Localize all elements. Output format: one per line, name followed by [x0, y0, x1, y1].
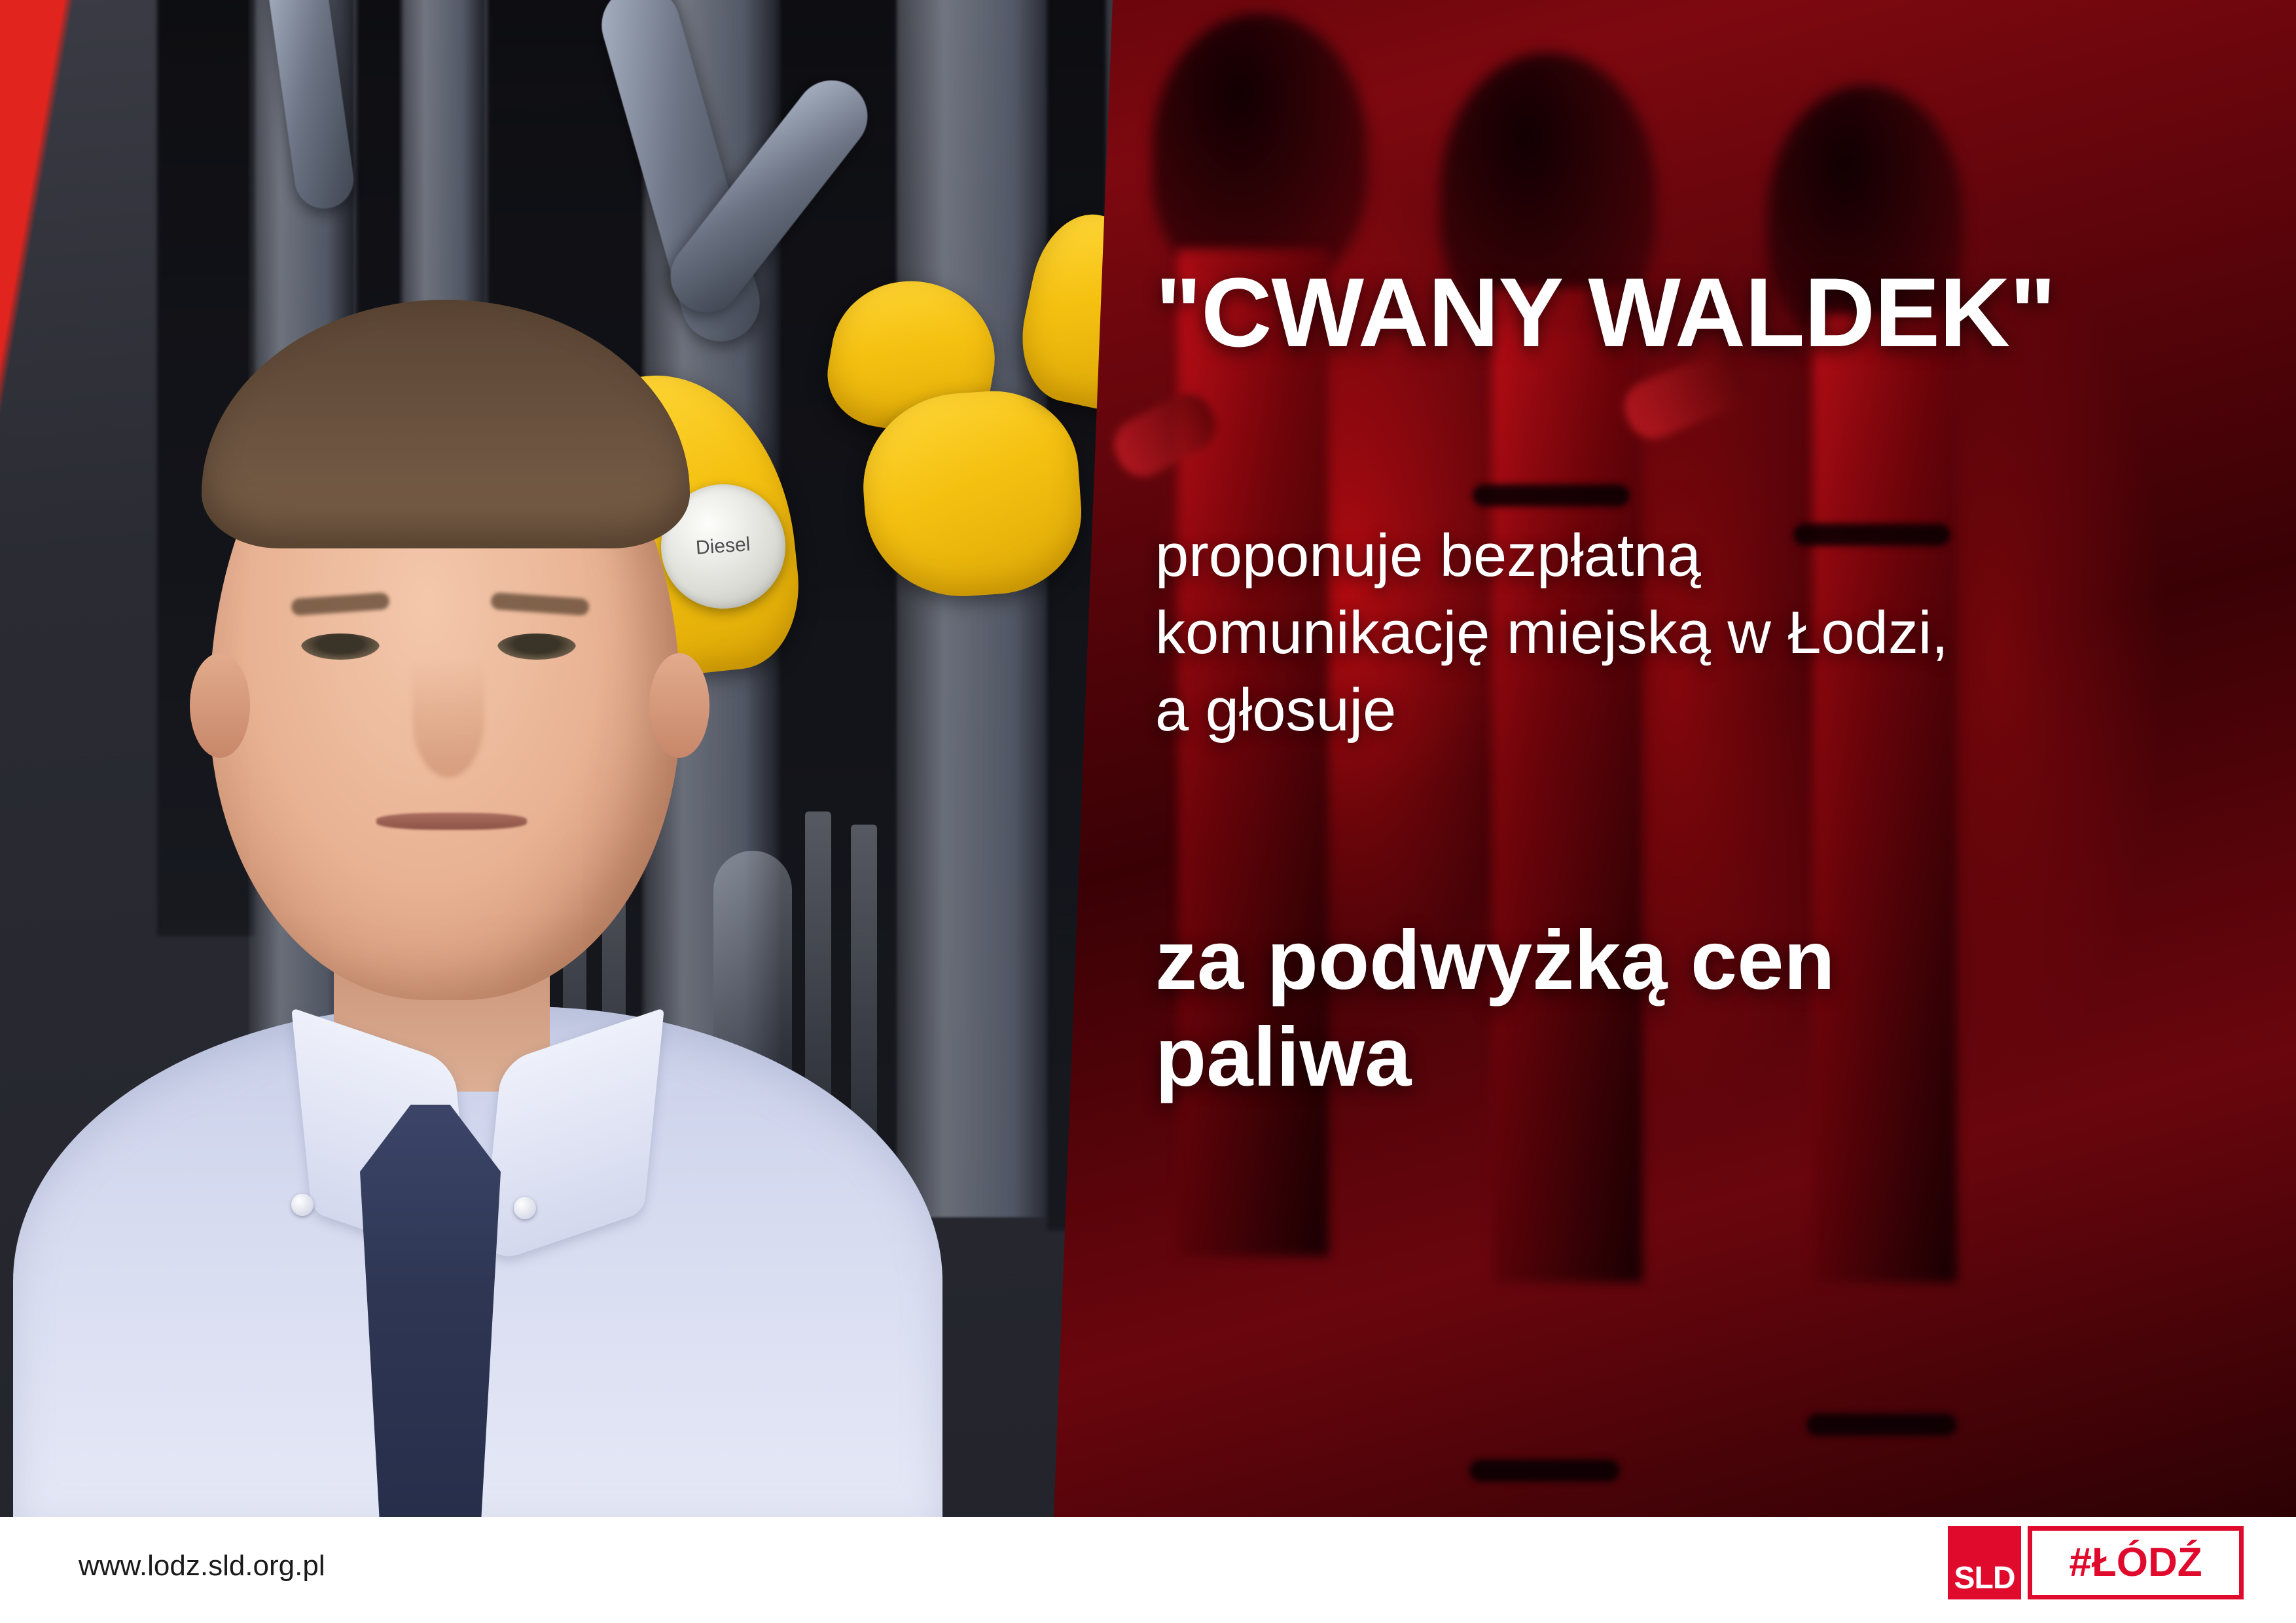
campaign-poster: Diesel — [0, 0, 2296, 1623]
poster-image-area: Diesel — [0, 0, 2296, 1517]
red-nozzle-band — [1473, 484, 1630, 507]
mouth — [376, 813, 527, 830]
candidate-portrait — [0, 130, 962, 1517]
poster-headline: "CWANY WALDEK" — [1155, 263, 2055, 361]
poster-body-line-1: proponuje bezpłatną — [1155, 524, 1701, 588]
sld-logo: SLD — [1948, 1526, 2021, 1599]
lodz-logo: #ŁÓDŹ — [2028, 1526, 2244, 1599]
poster-footer: www.lodz.sld.org.pl SLD #ŁÓDŹ — [0, 1517, 2296, 1623]
eye-left — [301, 633, 380, 660]
red-nozzle-head — [1152, 13, 1368, 288]
eye-right — [497, 633, 576, 660]
sld-logo-label: SLD — [1954, 1563, 2015, 1594]
website-url[interactable]: www.lodz.sld.org.pl — [79, 1550, 325, 1582]
gas-station-photo: Diesel — [0, 0, 1152, 1517]
ear-left — [190, 653, 250, 758]
poster-emphasis-line-1: za podwyżką cen — [1155, 916, 1835, 1005]
red-nozzle-body — [1492, 288, 1643, 1283]
nose — [412, 660, 484, 777]
shirt-button — [514, 1197, 536, 1219]
lodz-logo-label: #ŁÓDŹ — [2069, 1543, 2202, 1583]
poster-emphasis-line-2: paliwa — [1155, 1013, 1411, 1102]
shirt-button — [291, 1194, 314, 1216]
red-nozzle-band — [1793, 524, 1950, 546]
red-nozzle-band — [1806, 1414, 1957, 1436]
poster-body-line-3: a głosuje — [1155, 678, 1396, 743]
ear-right — [649, 653, 709, 758]
hair — [202, 300, 690, 548]
poster-body-line-2: komunikację miejską w Łodzi, — [1155, 601, 1948, 666]
red-nozzle-band — [1469, 1459, 1620, 1482]
red-nozzle-body — [1813, 314, 1957, 1283]
necktie — [360, 1105, 501, 1517]
logo-group: SLD #ŁÓDŹ — [1948, 1526, 2244, 1599]
